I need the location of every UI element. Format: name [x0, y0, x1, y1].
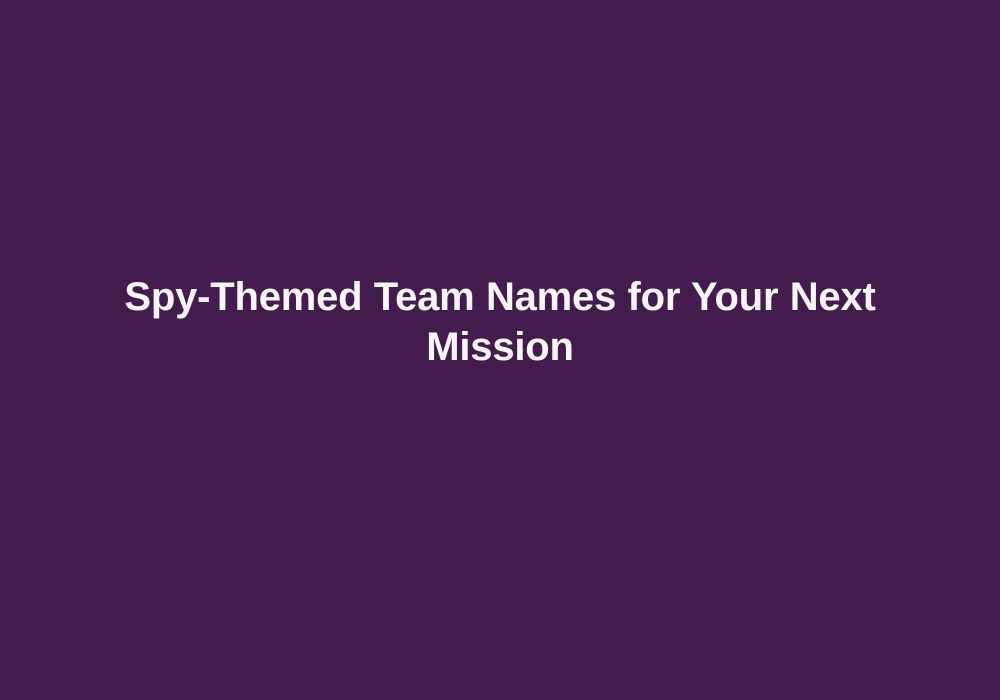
- hero-banner: Spy-Themed Team Names for Your Next Miss…: [0, 0, 1000, 700]
- headline-container: Spy-Themed Team Names for Your Next Miss…: [0, 272, 1000, 372]
- page-title: Spy-Themed Team Names for Your Next Miss…: [120, 272, 880, 372]
